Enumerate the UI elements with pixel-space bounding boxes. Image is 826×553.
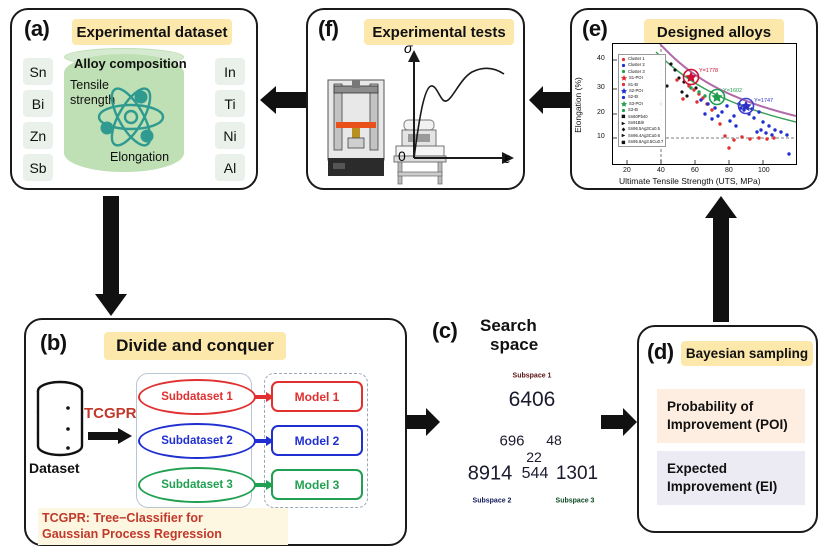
origin-label: 0 <box>398 148 406 164</box>
annotation-y-1747: Y=1747 <box>754 98 773 104</box>
panel-a-banner: Experimental dataset <box>72 19 232 45</box>
panel-b-banner: Divide and conquer <box>104 332 286 360</box>
search-space-title-line2: space <box>490 335 538 355</box>
subdataset-3: Subdataset 3 <box>138 467 256 503</box>
arrow-f-to-a <box>258 83 306 117</box>
panel-experimental-dataset: (a) Experimental dataset Alloy compositi… <box>10 8 258 190</box>
element-chip-bi: Bi <box>23 90 53 117</box>
acquisition-poi-line2: Improvement (POI) <box>667 416 795 434</box>
x-tick-60: 60 <box>691 167 699 174</box>
acquisition-poi: Probability of Improvement (POI) <box>657 389 805 443</box>
chart-legend: Cluster 1 Cluster 2 Cluster 3 S1-POI S1-… <box>618 54 666 147</box>
arrow-d-to-e <box>703 196 739 322</box>
epsilon-axis-label: ε <box>504 150 510 166</box>
venn-value-1-and-2: 696 <box>499 433 524 450</box>
x-tick-40: 40 <box>657 167 665 174</box>
arrow-b-to-c <box>406 405 440 439</box>
cylinder-title: Alloy composition <box>74 56 187 71</box>
panel-search-space: (c) Search space 6406 8914 1301 696 48 5… <box>432 318 624 528</box>
element-chip-al: Al <box>215 154 245 181</box>
panel-d-banner: Bayesian sampling <box>681 341 813 366</box>
y-tick-40: 40 <box>597 55 605 62</box>
element-chip-ti: Ti <box>215 90 245 117</box>
universal-testing-machine-icon <box>324 78 390 178</box>
panel-e-banner: Designed alloys <box>644 19 784 45</box>
panel-e-tag: (e) <box>582 16 607 42</box>
acquisition-ei-line2: Improvement (EI) <box>667 478 795 496</box>
dataset-cylinder-icon <box>36 380 84 458</box>
panel-f-tag: (f) <box>318 16 338 42</box>
dataset-label: Dataset <box>29 460 80 476</box>
element-chip-in: In <box>215 58 245 85</box>
element-chip-sb: Sb <box>23 154 53 181</box>
element-chip-zn: Zn <box>23 122 53 149</box>
search-space-title-line1: Search <box>480 316 537 336</box>
subdataset-2: Subdataset 2 <box>138 423 256 459</box>
venn-label-subspace-2: Subspace 2 <box>473 498 512 505</box>
element-chip-ni: Ni <box>215 122 245 149</box>
y-axis-title: Elongation (%) <box>573 77 583 133</box>
annotation-y-1778: Y=1778 <box>699 68 718 74</box>
tcgpr-footnote-line2: Gaussian Process Regression <box>42 526 284 542</box>
y-tick-10: 10 <box>597 133 605 140</box>
stress-strain-curve <box>400 40 518 172</box>
elongation-label: Elongation <box>110 150 169 164</box>
model-2: Model 2 <box>271 425 363 456</box>
venn-label-subspace-1: Subspace 1 <box>513 373 552 380</box>
panel-divide-and-conquer: (b) Divide and conquer Dataset TCGPR Sub… <box>24 318 407 546</box>
arrow-e-to-f <box>527 83 571 117</box>
arrow-c-to-d <box>601 405 637 439</box>
acquisition-ei: Expected Improvement (EI) <box>657 451 805 505</box>
panel-designed-alloys: (e) Designed alloys <box>570 8 818 190</box>
venn-value-1-and-3: 48 <box>546 432 562 448</box>
y-tick-20: 20 <box>597 109 605 116</box>
acquisition-poi-line1: Probability of <box>667 398 795 416</box>
panel-b-tag: (b) <box>40 330 67 356</box>
venn-diagram <box>454 360 614 520</box>
panel-experimental-tests: (f) Experimental tests σ ε <box>306 8 525 190</box>
panel-a-tag: (a) <box>24 16 49 42</box>
x-tick-20: 20 <box>623 167 631 174</box>
venn-value-2-and-3: 544 <box>522 465 549 483</box>
panel-c-tag: (c) <box>432 318 457 344</box>
venn-value-only-1: 6406 <box>509 388 556 412</box>
x-tick-100: 100 <box>758 167 770 174</box>
tcgpr-label: TCGPR <box>84 405 137 422</box>
panel-d-tag: (d) <box>647 339 674 365</box>
element-chip-sn: Sn <box>23 58 53 85</box>
scatter-plot-area: Y=1778 Y=1602 Y=1747 Cluster 1 Cluster 2… <box>612 43 797 165</box>
panel-bayesian-sampling: (d) Bayesian sampling Probability of Imp… <box>637 325 818 533</box>
model-3: Model 3 <box>271 469 363 500</box>
x-tick-80: 80 <box>725 167 733 174</box>
venn-value-all-three: 22 <box>526 449 542 465</box>
atom-icon <box>94 86 168 148</box>
model-1: Model 1 <box>271 381 363 412</box>
acquisition-ei-line1: Expected <box>667 460 795 478</box>
annotation-y-1602: Y=1602 <box>723 88 742 94</box>
tcgpr-footnote-line1: TCGPR: Tree−Classifier for <box>42 510 284 526</box>
subdataset-1: Subdataset 1 <box>138 379 256 415</box>
x-axis-title: Ultimate Tensile Strength (UTS, MPa) <box>619 176 761 186</box>
tcgpr-footnote: TCGPR: Tree−Classifier for Gaussian Proc… <box>38 508 288 545</box>
legend-item: Sn95.8Ag3.5Cu0.7 <box>621 139 663 145</box>
arrow-dataset-to-subdatasets <box>88 428 132 444</box>
venn-label-subspace-3: Subspace 3 <box>556 498 595 505</box>
venn-value-only-3: 1301 <box>556 463 598 485</box>
sigma-axis-label: σ <box>404 40 412 56</box>
arrow-a-to-b <box>93 196 129 318</box>
venn-value-only-2: 8914 <box>468 463 513 486</box>
y-tick-30: 30 <box>597 84 605 91</box>
